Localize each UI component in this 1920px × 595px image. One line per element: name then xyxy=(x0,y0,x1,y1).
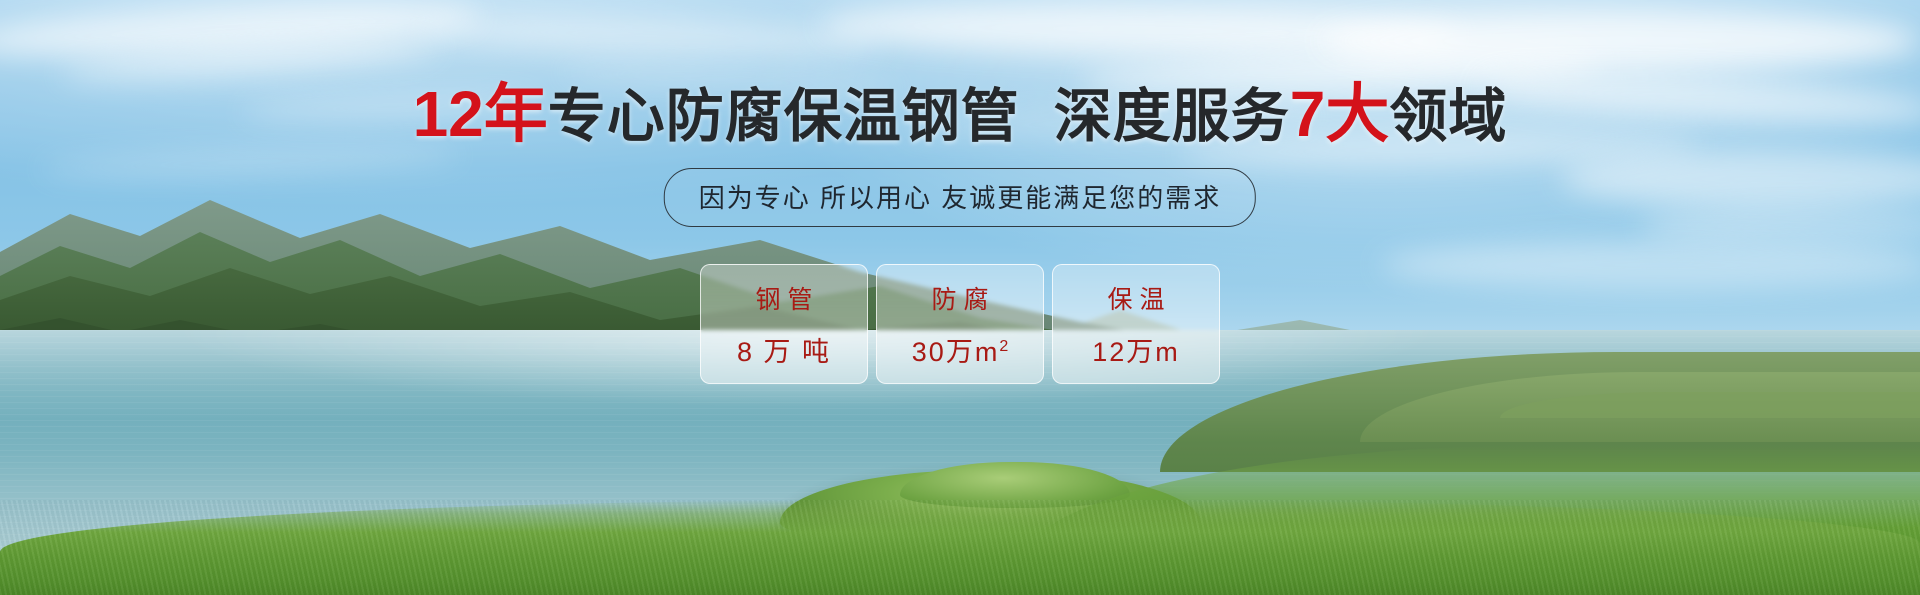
card-value: 12万m xyxy=(1092,330,1180,369)
card-value-text: 8 万 吨 xyxy=(737,337,831,367)
stat-cards: 钢管 8 万 吨 防腐 30万m2 保温 12万m xyxy=(700,264,1220,384)
headline-years-highlight: 12年 xyxy=(413,78,548,150)
stat-card-insulation[interactable]: 保温 12万m xyxy=(1052,264,1220,384)
promo-banner: 12年专心防腐保温钢管深度服务7大领域 因为专心 所以用心 友诚更能满足您的需求… xyxy=(0,0,1920,595)
card-title: 保温 xyxy=(1100,280,1171,316)
card-title: 防腐 xyxy=(924,280,995,316)
subtitle-pill: 因为专心 所以用心 友诚更能满足您的需求 xyxy=(664,168,1256,227)
headline-main-text: 专心防腐保温钢管 xyxy=(548,84,1020,149)
stat-card-steel-pipe[interactable]: 钢管 8 万 吨 xyxy=(700,264,868,384)
card-value: 8 万 吨 xyxy=(737,330,831,369)
banner-headline: 12年专心防腐保温钢管深度服务7大领域 xyxy=(0,82,1920,146)
headline-seven-highlight: 7大 xyxy=(1290,78,1390,150)
stat-card-anticorrosion[interactable]: 防腐 30万m2 xyxy=(876,264,1044,384)
card-value-text: 30万m xyxy=(912,337,1000,367)
headline-service-text: 深度服务 xyxy=(1054,84,1290,149)
card-value-superscript: 2 xyxy=(999,338,1008,355)
headline-fields-text: 领域 xyxy=(1389,84,1507,149)
card-title: 钢管 xyxy=(748,280,819,316)
grass-texture xyxy=(0,500,1920,595)
card-value-text: 12万m xyxy=(1092,337,1180,367)
card-value: 30万m2 xyxy=(912,330,1008,369)
